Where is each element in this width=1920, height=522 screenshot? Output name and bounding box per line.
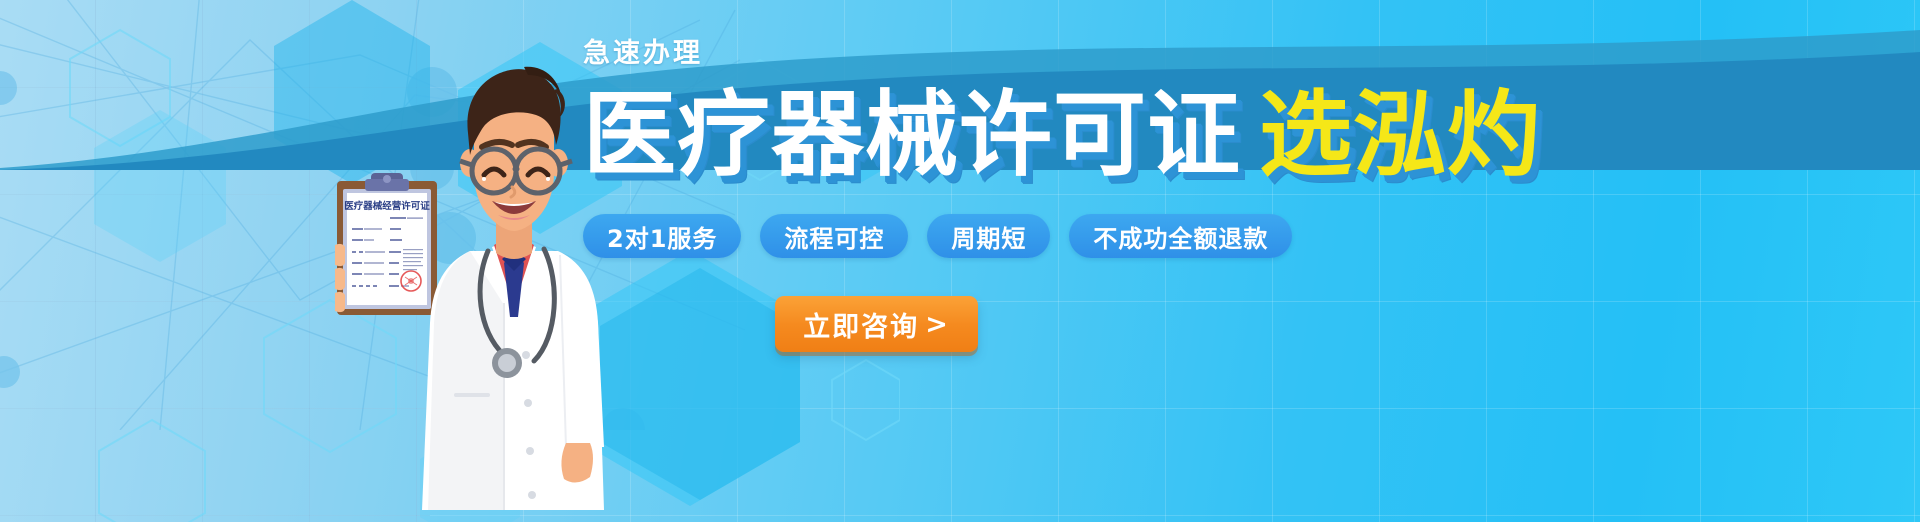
headline: 医疗器械许可证选泓灼 — [583, 89, 1763, 182]
headline-accent: 选泓灼 — [1259, 81, 1541, 189]
consult-now-button[interactable]: 立即咨询 > — [775, 296, 978, 352]
feature-pill-4[interactable]: 不成功全额退款 — [1069, 214, 1292, 258]
feature-pill-2[interactable]: 流程可控 — [760, 214, 908, 258]
cta-label: 立即咨询 — [803, 305, 919, 344]
feature-pill-1[interactable]: 2对1服务 — [583, 214, 741, 258]
eyebrow-text: 急速办理 — [583, 40, 1763, 67]
cta-container: 立即咨询 > — [583, 296, 1763, 352]
copy-block: 急速办理 医疗器械许可证选泓灼 2对1服务 流程可控 周期短 不成功全额退款 立… — [583, 40, 1763, 352]
headline-main: 医疗器械许可证 — [583, 81, 1241, 189]
promo-banner: 医疗器械经营许可证 — [0, 0, 1920, 522]
chevron-right-icon: > — [925, 309, 950, 340]
feature-pill-3[interactable]: 周期短 — [927, 214, 1050, 258]
feature-pill-list: 2对1服务 流程可控 周期短 不成功全额退款 — [583, 214, 1763, 258]
